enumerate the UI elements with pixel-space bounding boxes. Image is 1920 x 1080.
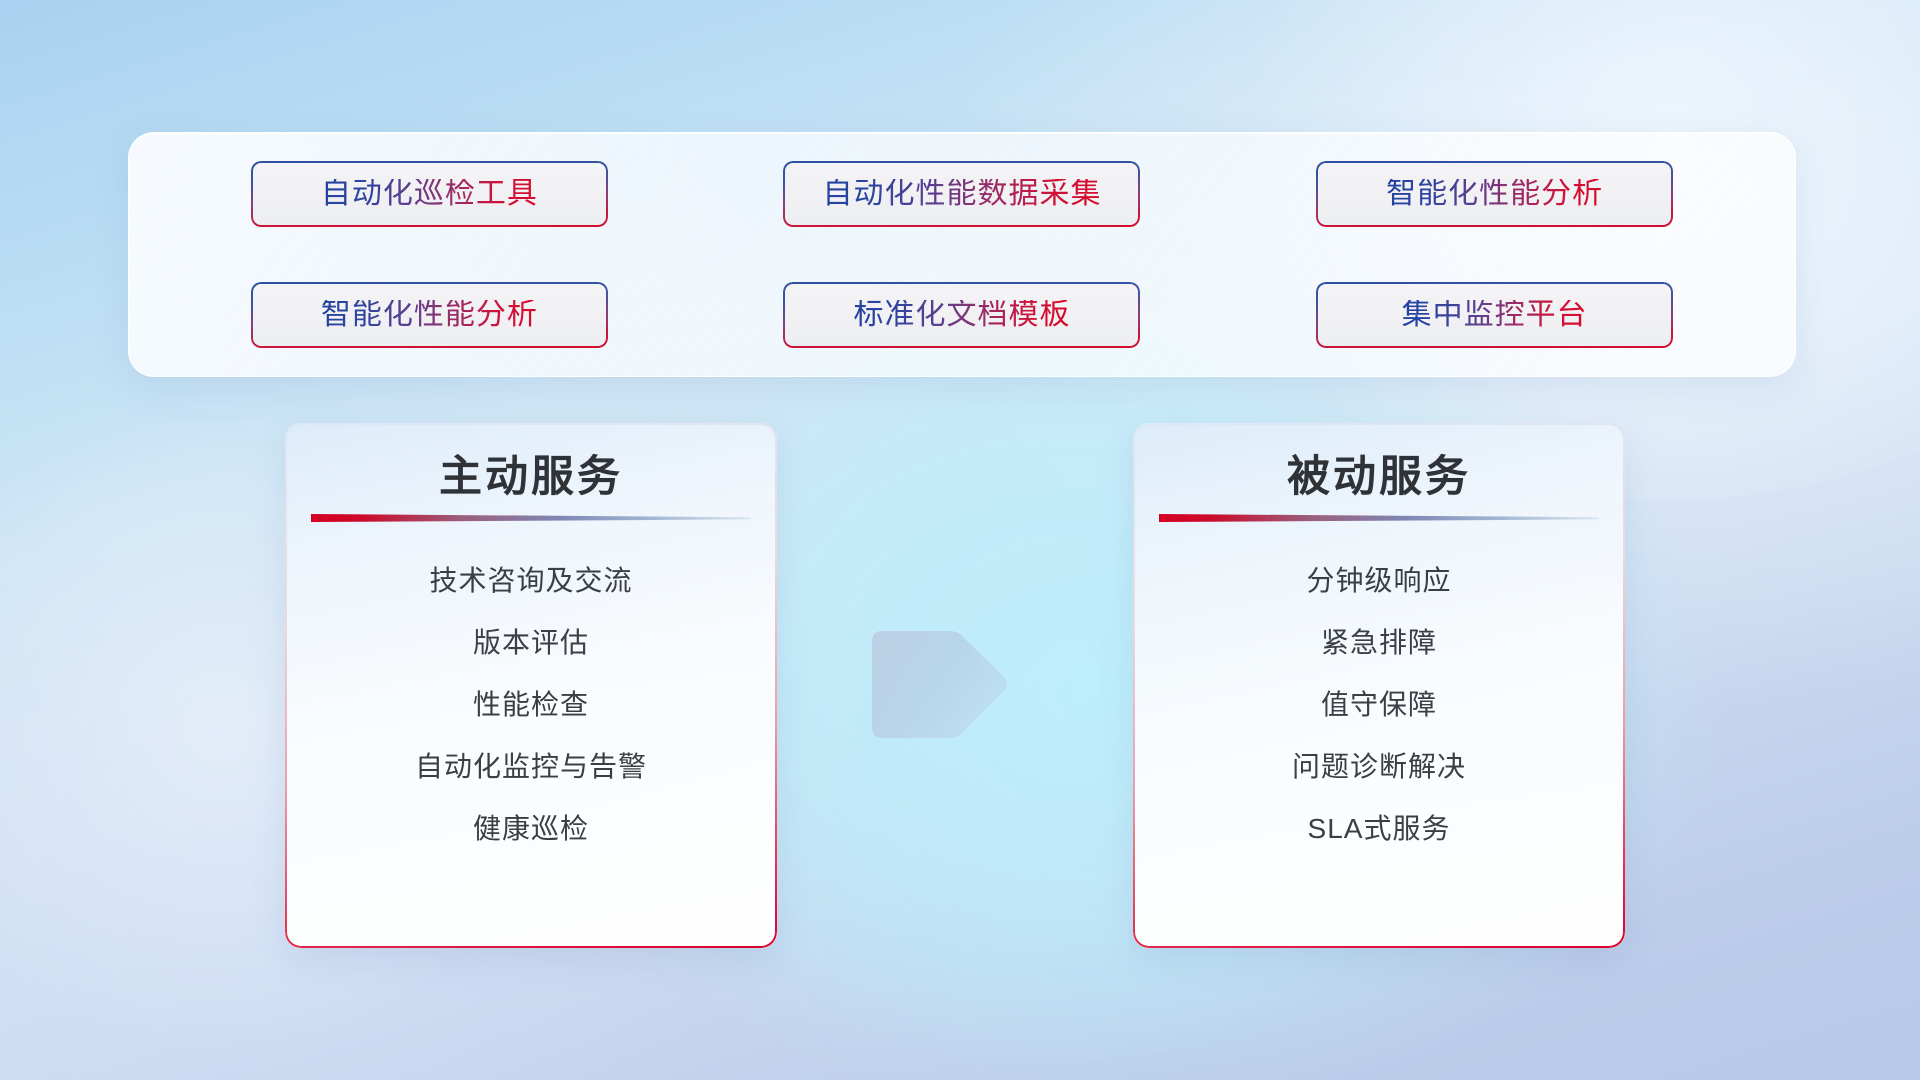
card-title: 主动服务: [311, 453, 751, 502]
capability-tag[interactable]: 集中监控平台: [1316, 282, 1673, 348]
slide-canvas: 自动化巡检工具 自动化性能数据采集 智能化性能分析 智能化性能分析 标准化文档模…: [0, 0, 1920, 1080]
capability-tag[interactable]: 自动化巡检工具: [251, 161, 608, 227]
capability-tag-label: 智能化性能分析: [321, 300, 538, 330]
service-item-list: 分钟级响应 紧急排障 值守保障 问题诊断解决 SLA式服务: [1159, 550, 1599, 860]
service-item-list: 技术咨询及交流 版本评估 性能检查 自动化监控与告警 健康巡检: [311, 550, 751, 860]
capability-tag[interactable]: 自动化性能数据采集: [783, 161, 1140, 227]
service-list-item: SLA式服务: [1159, 798, 1599, 860]
service-card-passive[interactable]: 被动服务 分钟级响应 紧急排障 值守保障: [1133, 423, 1625, 948]
capability-tag[interactable]: 标准化文档模板: [783, 282, 1140, 348]
service-list-item: 技术咨询及交流: [311, 550, 751, 612]
capability-tag-label: 标准化文档模板: [853, 300, 1070, 330]
card-title: 被动服务: [1159, 453, 1599, 502]
capability-tag-label: 自动化巡检工具: [321, 179, 538, 209]
service-list-item: 性能检查: [311, 674, 751, 736]
capability-tag-label: 集中监控平台: [1402, 300, 1588, 330]
service-list-item: 版本评估: [311, 612, 751, 674]
capability-tag-label: 自动化性能数据采集: [822, 179, 1101, 209]
service-list-item: 紧急排障: [1159, 612, 1599, 674]
card-title-divider: [1159, 510, 1599, 526]
card-title-divider: [311, 510, 751, 526]
capability-tag-label: 智能化性能分析: [1386, 179, 1603, 209]
service-list-item: 自动化监控与告警: [311, 736, 751, 798]
capability-tag[interactable]: 智能化性能分析: [1316, 161, 1673, 227]
service-list-item: 值守保障: [1159, 674, 1599, 736]
service-card-active[interactable]: 主动服务 技术咨询及交流 版本评估 性能检查: [285, 423, 777, 948]
service-list-item: 健康巡检: [311, 798, 751, 860]
capability-tag[interactable]: 智能化性能分析: [251, 282, 608, 348]
service-list-item: 问题诊断解决: [1159, 736, 1599, 798]
service-list-item: 分钟级响应: [1159, 550, 1599, 612]
capability-tags-panel: 自动化巡检工具 自动化性能数据采集 智能化性能分析 智能化性能分析 标准化文档模…: [128, 132, 1796, 377]
right-arrow-icon: [862, 615, 1012, 755]
